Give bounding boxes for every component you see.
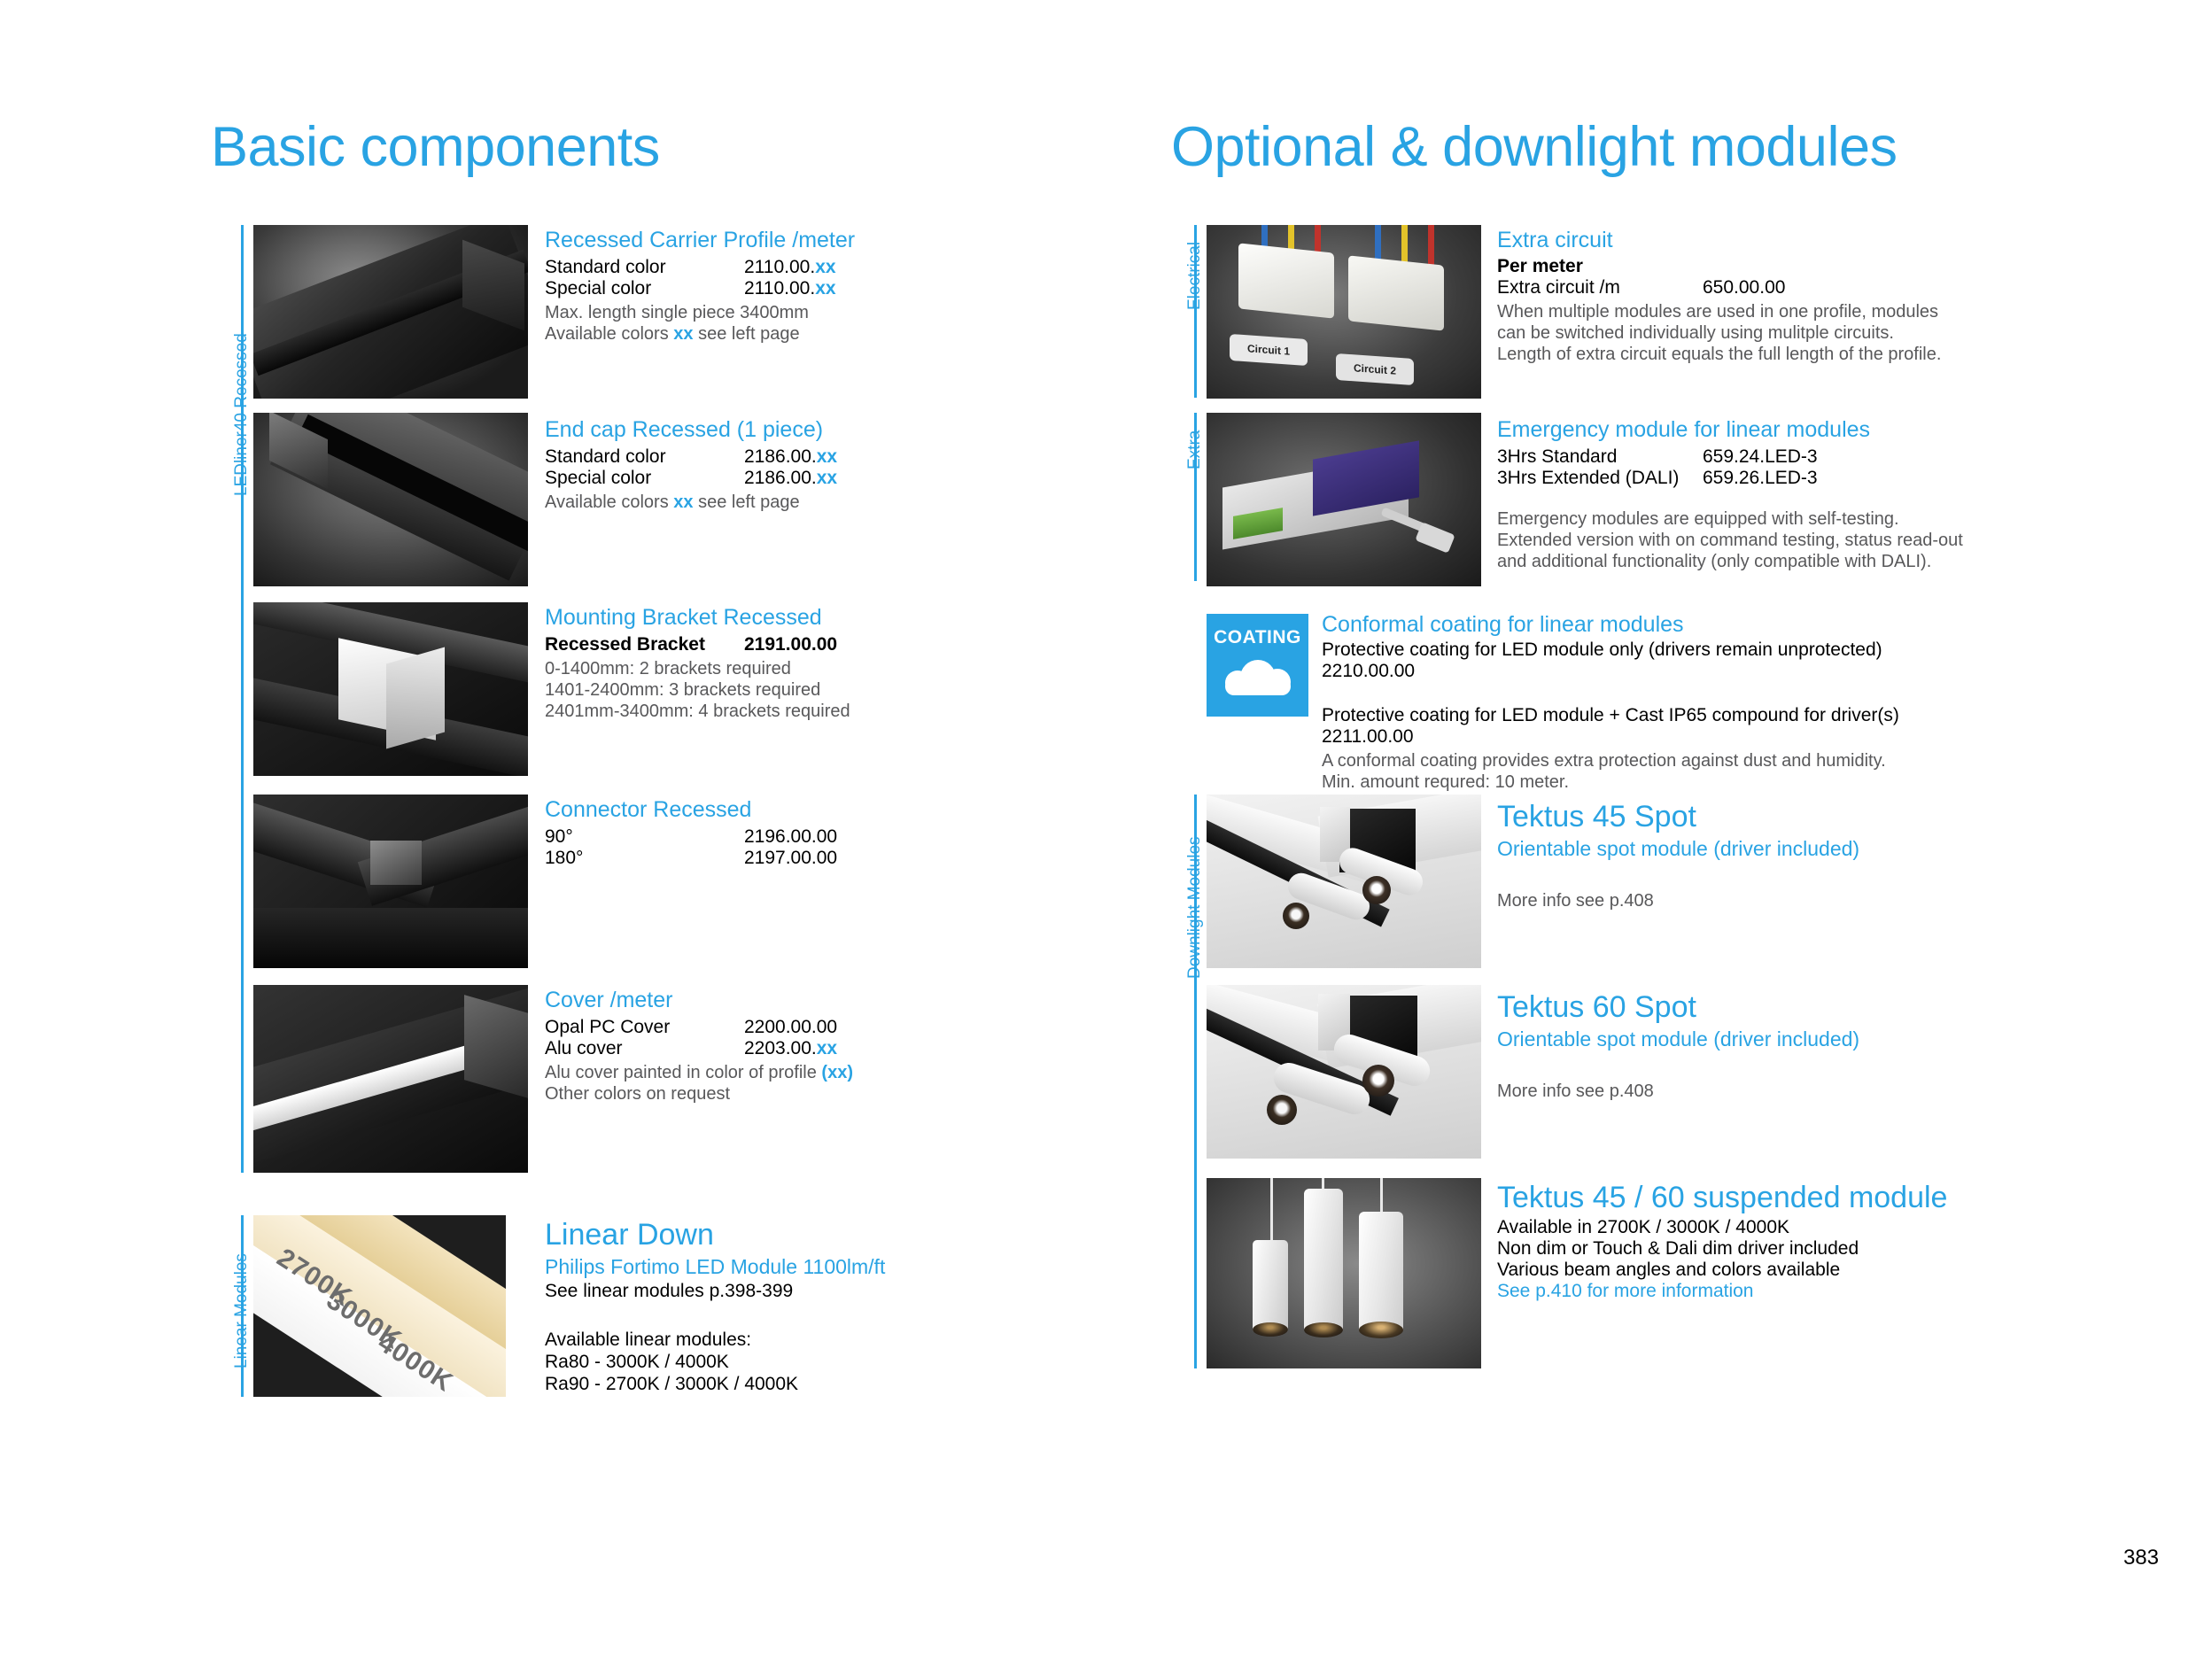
coating-badge: COATING <box>1207 614 1308 717</box>
suspended-line: Various beam angles and colors available <box>1497 1260 2029 1281</box>
product-note-colors: Available colors xx see left page <box>545 323 917 345</box>
product-text-mounting-bracket: Mounting Bracket Recessed Recessed Brack… <box>545 604 926 722</box>
product-note: Max. length single piece 3400mm <box>545 302 917 323</box>
spec-row: Standard color 2186.00.xx <box>545 446 917 468</box>
product-text-tektus-60: Tektus 60 Spot Orientable spot module (d… <box>1497 989 1993 1102</box>
product-note-colors: Available colors xx see left page <box>545 492 917 513</box>
see-linear-modules: See linear modules p.398-399 <box>545 1280 935 1302</box>
product-title: Tektus 45 Spot <box>1497 799 1993 834</box>
rail-label-ledliner40: LEDliner40 Recessed <box>232 333 252 496</box>
spec-row: Opal PC Cover 2200.00.00 <box>545 1017 926 1038</box>
spec-row: Special color 2186.00.xx <box>545 468 917 489</box>
per-meter-label: Per meter <box>1497 256 1993 277</box>
available-item: Ra90 - 2700K / 3000K / 4000K <box>545 1373 935 1395</box>
product-title: Cover /meter <box>545 987 926 1013</box>
product-image-tektus-suspended <box>1207 1178 1481 1368</box>
rail-label-electrical: Electrical <box>1185 242 1205 310</box>
product-note: 2401mm-3400mm: 4 brackets required <box>545 701 926 722</box>
product-subtitle: Philips Fortimo LED Module 1100lm/ft <box>545 1254 935 1280</box>
product-title: Tektus 60 Spot <box>1497 989 1993 1025</box>
spec-row: 90° 2196.00.00 <box>545 826 917 848</box>
product-note: Emergency modules are equipped with self… <box>1497 508 1993 530</box>
coating-code-1: 2210.00.00 <box>1322 661 1995 682</box>
suspended-line: Non dim or Touch & Dali dim driver inclu… <box>1497 1238 2029 1260</box>
product-image-linear-down: 2700K 3000K 4000K <box>253 1215 506 1397</box>
product-text-cover: Cover /meter Opal PC Cover 2200.00.00 Al… <box>545 987 926 1105</box>
page-title-left: Basic components <box>211 115 660 179</box>
product-image-tektus-60 <box>1207 985 1481 1159</box>
spec-row: 3Hrs Extended (DALI) 659.26.LED-3 <box>1497 468 1993 489</box>
rail-label-extra: Extra <box>1185 430 1205 469</box>
product-image-cover <box>253 985 528 1173</box>
product-note: A conformal coating provides extra prote… <box>1322 750 1995 771</box>
cloud-icon <box>1225 660 1291 695</box>
see-more-information-link[interactable]: See p.410 for more information <box>1497 1281 2029 1302</box>
spec-row: 180° 2197.00.00 <box>545 848 917 869</box>
product-note: When multiple modules are used in one pr… <box>1497 301 1993 322</box>
product-image-mounting-bracket <box>253 602 528 776</box>
product-title: Mounting Bracket Recessed <box>545 604 926 631</box>
page-title-right: Optional & downlight modules <box>1171 115 1898 179</box>
product-title: Conformal coating for linear modules <box>1322 611 1995 638</box>
spec-row: Recessed Bracket 2191.00.00 <box>545 634 926 655</box>
product-title: Linear Down <box>545 1217 935 1252</box>
circuit-label: Circuit 1 <box>1247 342 1290 357</box>
product-note: 0-1400mm: 2 brackets required <box>545 658 926 679</box>
product-text-extra-circuit: Extra circuit Per meter Extra circuit /m… <box>1497 227 1993 365</box>
product-image-extra-circuit: Circuit 1 Circuit 2 <box>1207 225 1481 399</box>
product-subtitle: Orientable spot module (driver included) <box>1497 1027 1993 1052</box>
product-text-tektus-suspended: Tektus 45 / 60 suspended module Availabl… <box>1497 1180 2029 1302</box>
more-info: More info see p.408 <box>1497 1081 1993 1102</box>
available-heading: Available linear modules: <box>545 1329 935 1351</box>
product-title: End cap Recessed (1 piece) <box>545 416 917 443</box>
product-note: Extended version with on command testing… <box>1497 530 1993 551</box>
suspended-line: Available in 2700K / 3000K / 4000K <box>1497 1217 2029 1238</box>
product-text-emergency-module: Emergency module for linear modules 3Hrs… <box>1497 416 1993 572</box>
rail-label-linear-modules: Linear Modules <box>232 1253 252 1368</box>
product-note: can be switched individually using mulit… <box>1497 322 1993 344</box>
spec-row: Extra circuit /m 650.00.00 <box>1497 277 1993 298</box>
product-text-linear-down: Linear Down Philips Fortimo LED Module 1… <box>545 1217 935 1395</box>
coating-badge-label: COATING <box>1214 627 1301 648</box>
product-text-conformal-coating: Conformal coating for linear modules Pro… <box>1322 611 1995 793</box>
product-text-connector: Connector Recessed 90° 2196.00.00 180° 2… <box>545 796 917 869</box>
product-image-emergency-module <box>1207 413 1481 586</box>
product-note: 1401-2400mm: 3 brackets required <box>545 679 926 701</box>
catalog-page: Basic components Optional & downlight mo… <box>0 0 2212 1659</box>
product-title: Connector Recessed <box>545 796 917 823</box>
product-image-carrier-profile <box>253 225 528 399</box>
coating-code-2: 2211.00.00 <box>1322 726 1995 748</box>
product-subtitle: Orientable spot module (driver included) <box>1497 836 1993 862</box>
product-text-tektus-45: Tektus 45 Spot Orientable spot module (d… <box>1497 799 1993 911</box>
product-note: Min. amount requred: 10 meter. <box>1322 771 1995 793</box>
rail-label-downlight-modules: Downlight Modules <box>1185 836 1205 979</box>
product-text-carrier-profile: Recessed Carrier Profile /meter Standard… <box>545 227 917 345</box>
product-image-connector <box>253 795 528 968</box>
spec-row: Standard color 2110.00.xx <box>545 257 917 278</box>
page-number: 383 <box>2123 1546 2159 1570</box>
spec-row: Alu cover 2203.00.xx <box>545 1038 926 1059</box>
more-info: More info see p.408 <box>1497 890 1993 911</box>
coating-line-2: Protective coating for LED module + Cast… <box>1322 705 1995 726</box>
coating-line-1: Protective coating for LED module only (… <box>1322 640 1995 661</box>
product-note: Length of extra circuit equals the full … <box>1497 344 1993 365</box>
product-note: Other colors on request <box>545 1083 926 1105</box>
spec-row: 3Hrs Standard 659.24.LED-3 <box>1497 446 1993 468</box>
product-title: Extra circuit <box>1497 227 1993 253</box>
product-note-painted: Alu cover painted in color of profile (x… <box>545 1062 926 1083</box>
product-title: Tektus 45 / 60 suspended module <box>1497 1180 2029 1215</box>
product-text-end-cap: End cap Recessed (1 piece) Standard colo… <box>545 416 917 513</box>
product-note: and additional functionality (only compa… <box>1497 551 1993 572</box>
product-image-tektus-45 <box>1207 795 1481 968</box>
available-item: Ra80 - 3000K / 4000K <box>545 1351 935 1373</box>
spec-row: Special color 2110.00.xx <box>545 278 917 299</box>
product-title: Recessed Carrier Profile /meter <box>545 227 917 253</box>
product-title: Emergency module for linear modules <box>1497 416 1993 443</box>
product-image-end-cap <box>253 413 528 586</box>
circuit-label: Circuit 2 <box>1354 361 1396 376</box>
